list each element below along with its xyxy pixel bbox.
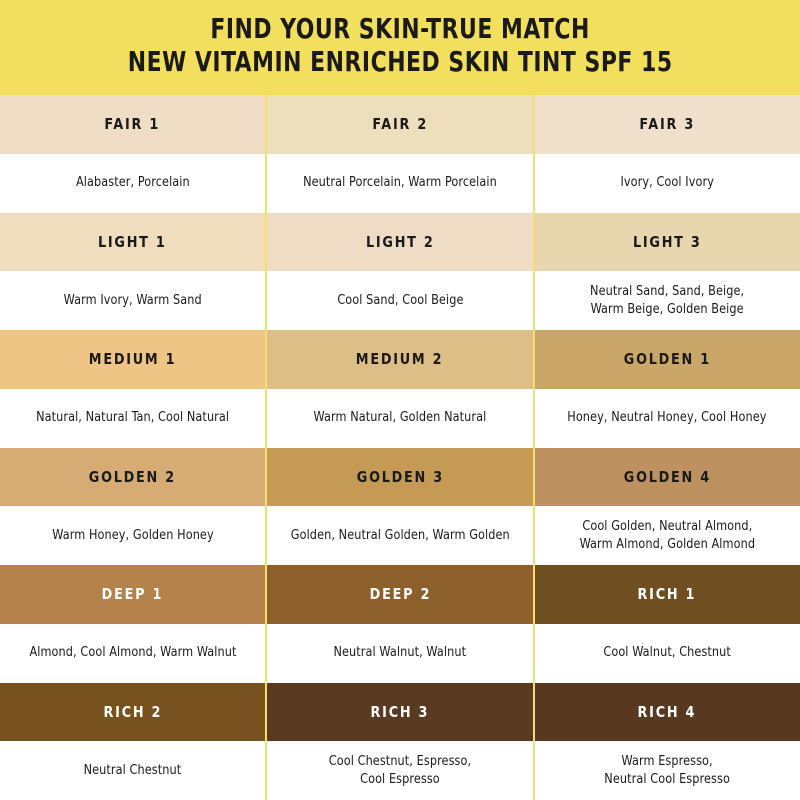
shade-names-cell: Neutral Porcelain, Warm Porcelain [265,154,532,213]
shade-names-cell: Ivory, Cool Ivory [533,154,800,213]
shade-swatch-cell[interactable]: RICH 2 [0,683,265,742]
shade-names-text: Cool Sand, Cool Beige [337,292,463,309]
shade-family-label: FAIR 2 [372,115,428,133]
shade-swatch-cell[interactable]: FAIR 2 [265,95,532,154]
shade-names-text: Warm Espresso, Neutral Cool Espresso [604,753,730,788]
shade-swatch-cell[interactable]: MEDIUM 1 [0,330,265,389]
shade-family-label: RICH 4 [638,703,697,721]
shade-names-text: Cool Chestnut, Espresso, Cool Espresso [329,753,471,788]
shade-names-cell: Cool Golden, Neutral Almond, Warm Almond… [533,506,800,565]
shade-names-text: Cool Walnut, Chestnut [604,644,732,661]
shade-family-label: RICH 2 [103,703,162,721]
shade-row: DEEP 1 DEEP 2 RICH 1 Almond, Cool Almond… [0,565,800,683]
shade-swatch-cell[interactable]: GOLDEN 1 [533,330,800,389]
shade-names-text: Neutral Porcelain, Warm Porcelain [303,174,497,191]
shade-names-cell: Warm Honey, Golden Honey [0,506,265,565]
shade-names-cell: Cool Chestnut, Espresso, Cool Espresso [265,741,532,800]
shade-family-label: RICH 3 [371,703,430,721]
shade-family-label: GOLDEN 1 [624,350,711,368]
shade-family-label: LIGHT 3 [633,233,702,251]
shade-names-text: Neutral Sand, Sand, Beige, Warm Beige, G… [590,283,744,318]
shade-family-label: MEDIUM 1 [89,350,177,368]
shade-names-text: Cool Golden, Neutral Almond, Warm Almond… [580,518,755,553]
shade-names-cell: Almond, Cool Almond, Warm Walnut [0,624,265,683]
shade-row: MEDIUM 1 MEDIUM 2 GOLDEN 1 Natural, Natu… [0,330,800,448]
shade-names-cell: Honey, Neutral Honey, Cool Honey [533,389,800,448]
shade-names-text: Neutral Chestnut [84,762,182,779]
shade-family-label: LIGHT 2 [366,233,435,251]
shade-grid: FAIR 1 FAIR 2 FAIR 3 Alabaster, Porcelai… [0,95,800,800]
description-row: Natural, Natural Tan, Cool Natural Warm … [0,389,800,448]
shade-swatch-cell[interactable]: GOLDEN 3 [265,448,532,507]
shade-names-text: Warm Ivory, Warm Sand [64,292,202,309]
shade-family-label: DEEP 2 [369,585,430,603]
shade-family-label: RICH 1 [638,585,697,603]
shade-names-text: Warm Natural, Golden Natural [314,409,487,426]
shade-names-cell: Cool Sand, Cool Beige [265,271,532,330]
shade-swatch-cell[interactable]: LIGHT 1 [0,213,265,272]
shade-family-label: GOLDEN 2 [89,468,176,486]
shade-names-cell: Golden, Neutral Golden, Warm Golden [265,506,532,565]
description-row: Warm Honey, Golden Honey Golden, Neutral… [0,506,800,565]
shade-names-text: Alabaster, Porcelain [76,174,190,191]
shade-swatch-cell[interactable]: LIGHT 3 [533,213,800,272]
swatch-row: MEDIUM 1 MEDIUM 2 GOLDEN 1 [0,330,800,389]
shade-names-text: Honey, Neutral Honey, Cool Honey [568,409,767,426]
description-row: Almond, Cool Almond, Warm Walnut Neutral… [0,624,800,683]
shade-names-text: Warm Honey, Golden Honey [52,527,213,544]
swatch-row: FAIR 1 FAIR 2 FAIR 3 [0,95,800,154]
shade-swatch-cell[interactable]: FAIR 3 [533,95,800,154]
shade-names-cell: Alabaster, Porcelain [0,154,265,213]
shade-swatch-cell[interactable]: LIGHT 2 [265,213,532,272]
chart-header-banner: FIND YOUR SKIN-TRUE MATCH NEW VITAMIN EN… [0,0,800,95]
shade-row: FAIR 1 FAIR 2 FAIR 3 Alabaster, Porcelai… [0,95,800,213]
shade-names-cell: Warm Natural, Golden Natural [265,389,532,448]
shade-family-label: MEDIUM 2 [356,350,444,368]
swatch-row: GOLDEN 2 GOLDEN 3 GOLDEN 4 [0,448,800,507]
description-row: Alabaster, Porcelain Neutral Porcelain, … [0,154,800,213]
shade-family-label: GOLDEN 3 [356,468,443,486]
shade-swatch-cell[interactable]: DEEP 1 [0,565,265,624]
shade-names-cell: Neutral Walnut, Walnut [265,624,532,683]
shade-swatch-cell[interactable]: RICH 4 [533,683,800,742]
shade-names-cell: Natural, Natural Tan, Cool Natural [0,389,265,448]
shade-family-label: GOLDEN 4 [624,468,711,486]
chart-title-line-2: NEW VITAMIN ENRICHED SKIN TINT SPF 15 [128,46,673,78]
shade-swatch-cell[interactable]: FAIR 1 [0,95,265,154]
shade-names-cell: Neutral Chestnut [0,741,265,800]
shade-row: LIGHT 1 LIGHT 2 LIGHT 3 Warm Ivory, Warm… [0,213,800,331]
description-row: Neutral Chestnut Cool Chestnut, Espresso… [0,741,800,800]
shade-names-text: Golden, Neutral Golden, Warm Golden [290,527,509,544]
shade-names-text: Natural, Natural Tan, Cool Natural [36,409,229,426]
shade-swatch-cell[interactable]: RICH 1 [533,565,800,624]
shade-swatch-cell[interactable]: GOLDEN 2 [0,448,265,507]
shade-swatch-cell[interactable]: RICH 3 [265,683,532,742]
swatch-row: RICH 2 RICH 3 RICH 4 [0,683,800,742]
shade-row: RICH 2 RICH 3 RICH 4 Neutral Chestnut Co… [0,683,800,800]
shade-swatch-cell[interactable]: GOLDEN 4 [533,448,800,507]
shade-names-cell: Neutral Sand, Sand, Beige, Warm Beige, G… [533,271,800,330]
description-row: Warm Ivory, Warm Sand Cool Sand, Cool Be… [0,271,800,330]
shade-match-chart: FIND YOUR SKIN-TRUE MATCH NEW VITAMIN EN… [0,0,800,800]
swatch-row: DEEP 1 DEEP 2 RICH 1 [0,565,800,624]
shade-names-text: Neutral Walnut, Walnut [334,644,467,661]
shade-swatch-cell[interactable]: DEEP 2 [265,565,532,624]
shade-family-label: DEEP 1 [102,585,163,603]
shade-family-label: LIGHT 1 [98,233,167,251]
shade-row: GOLDEN 2 GOLDEN 3 GOLDEN 4 Warm Honey, G… [0,448,800,566]
shade-family-label: FAIR 3 [640,115,696,133]
shade-names-text: Ivory, Cool Ivory [621,174,715,191]
chart-title-line-1: FIND YOUR SKIN-TRUE MATCH [210,13,590,45]
shade-swatch-cell[interactable]: MEDIUM 2 [265,330,532,389]
swatch-row: LIGHT 1 LIGHT 2 LIGHT 3 [0,213,800,272]
shade-names-cell: Warm Espresso, Neutral Cool Espresso [533,741,800,800]
shade-family-label: FAIR 1 [105,115,161,133]
shade-names-cell: Warm Ivory, Warm Sand [0,271,265,330]
shade-names-text: Almond, Cool Almond, Warm Walnut [29,644,236,661]
shade-names-cell: Cool Walnut, Chestnut [533,624,800,683]
